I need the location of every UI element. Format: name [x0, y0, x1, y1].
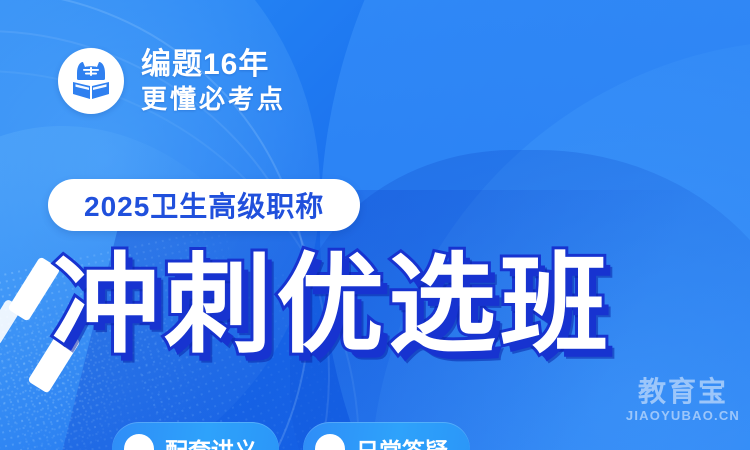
feature-pill: 配套讲义	[112, 422, 279, 450]
feature-pill-label: 日常答疑	[356, 432, 448, 450]
subtitle-pill: 2025卫生高级职称	[48, 179, 360, 231]
page-title: 冲刺优选班	[52, 248, 612, 361]
subtitle-pill-label: 2025卫生高级职称	[84, 185, 324, 225]
book-owl-logo-icon	[69, 60, 113, 102]
feature-pill-row: 配套讲义 日常答疑	[112, 422, 470, 450]
feature-pill-label: 配套讲义	[165, 432, 257, 450]
bullet-dot-icon	[315, 434, 345, 450]
brand-slogan: 编题16年 更懂必考点	[141, 50, 286, 112]
slogan-line-2: 更懂必考点	[141, 86, 286, 112]
slogan-line-1: 编题16年	[141, 50, 286, 80]
brand-logo	[58, 48, 124, 114]
feature-pill: 日常答疑	[303, 422, 470, 450]
promo-poster: 编题16年 更懂必考点 2025卫生高级职称 冲刺优选班 配套讲义 日常答疑 教…	[0, 0, 750, 450]
brand-header: 编题16年 更懂必考点	[58, 48, 286, 114]
bullet-dot-icon	[124, 434, 154, 450]
